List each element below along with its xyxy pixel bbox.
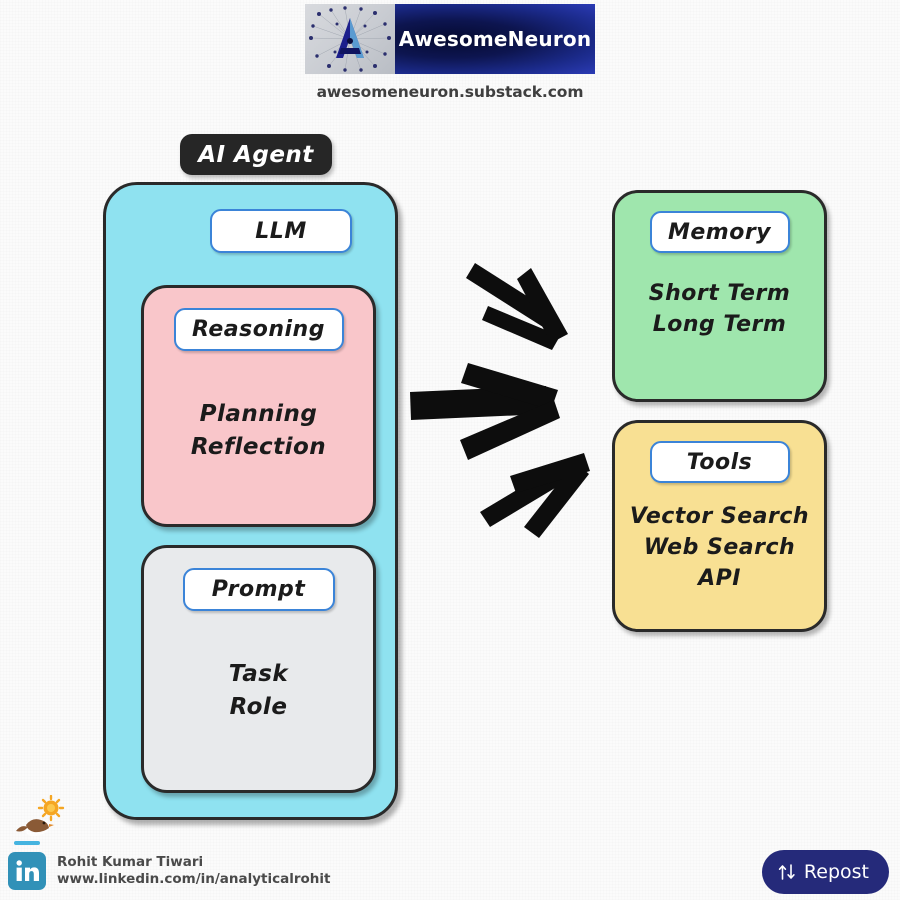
reasoning-card[interactable]: Reasoning Planning Reflection (141, 285, 376, 527)
memory-title-pill: Memory (650, 211, 790, 253)
reasoning-title-pill: Reasoning (174, 308, 344, 351)
author-credit-text: Rohit Kumar Tiwari www.linkedin.com/in/a… (57, 854, 331, 889)
arrow-right-icon (480, 453, 590, 538)
memory-card[interactable]: Memory Short Term Long Term (612, 190, 827, 402)
reasoning-title: Reasoning (192, 317, 325, 342)
brand-name-text: AwesomeNeuron (399, 27, 592, 51)
bird-and-sun-sticker (8, 795, 78, 850)
tools-item: Vector Search (615, 501, 824, 532)
header: AwesomeNeuron awesomeneuron.substack.com (0, 4, 900, 101)
reasoning-item: Planning (144, 398, 373, 431)
prompt-title: Prompt (212, 577, 306, 602)
tools-item: Web Search (615, 532, 824, 563)
arrow-right-icon (410, 363, 560, 460)
water-line (14, 841, 40, 845)
llm-node[interactable]: LLM (210, 209, 352, 253)
ai-agent-label-text: AI Agent (198, 142, 314, 168)
prompt-card[interactable]: Prompt Task Role (141, 545, 376, 793)
repost-button[interactable]: Repost (762, 850, 889, 894)
author-url: www.linkedin.com/in/analyticalrohit (57, 871, 331, 888)
prompt-item: Role (144, 691, 373, 724)
author-name: Rohit Kumar Tiwari (57, 854, 331, 871)
repost-button-label: Repost (804, 861, 869, 883)
memory-title: Memory (668, 220, 771, 245)
reasoning-item: Reflection (144, 431, 373, 464)
bird-icon (16, 817, 54, 839)
tools-card[interactable]: Tools Vector Search Web Search API (612, 420, 827, 632)
reasoning-items: Planning Reflection (144, 398, 373, 463)
tools-items: Vector Search Web Search API (615, 501, 824, 595)
flow-arrows (400, 250, 610, 550)
site-url: awesomeneuron.substack.com (0, 83, 900, 101)
memory-items: Short Term Long Term (615, 278, 824, 340)
arrow-right-icon (466, 263, 568, 350)
prompt-item: Task (144, 658, 373, 691)
tools-item: API (615, 563, 824, 594)
author-credit[interactable]: Rohit Kumar Tiwari www.linkedin.com/in/a… (8, 852, 331, 890)
brand-name-wordmark: AwesomeNeuron (395, 4, 595, 74)
memory-item: Long Term (615, 309, 824, 340)
ai-agent-container: LLM Reasoning Planning Reflection Prompt… (103, 182, 398, 820)
tools-title: Tools (687, 450, 753, 475)
sun-icon (39, 796, 63, 820)
tools-title-pill: Tools (650, 441, 790, 483)
linkedin-icon[interactable] (8, 852, 46, 890)
memory-item: Short Term (615, 278, 824, 309)
prompt-items: Task Role (144, 658, 373, 723)
ai-agent-label: AI Agent (180, 134, 332, 175)
neural-network-icon (305, 4, 395, 74)
prompt-title-pill: Prompt (183, 568, 335, 611)
llm-label: LLM (255, 219, 306, 244)
repost-arrows-icon (778, 862, 796, 882)
brand-logo[interactable]: AwesomeNeuron (305, 4, 595, 74)
